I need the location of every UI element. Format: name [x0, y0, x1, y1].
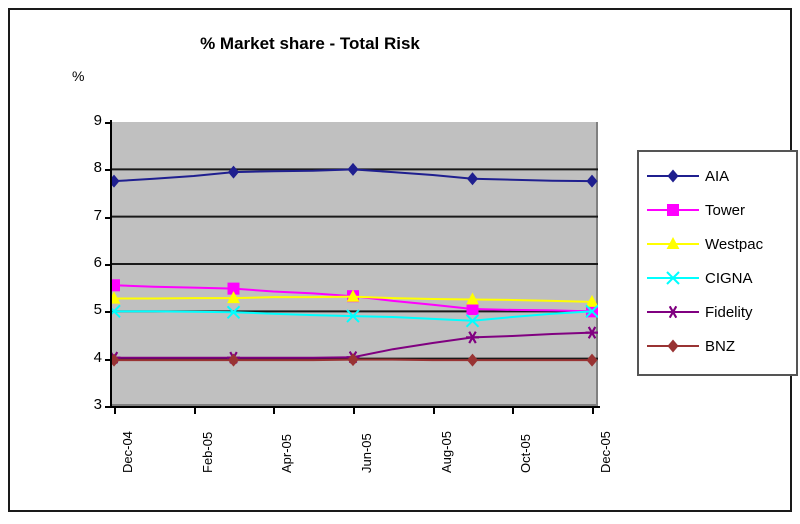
y-tick-label: 6	[76, 254, 102, 271]
x-tick-label: Jun-05	[359, 433, 374, 473]
y-tick-mark	[105, 122, 112, 124]
x-tick-label: Dec-05	[598, 431, 613, 473]
x-tick-mark	[194, 407, 196, 414]
legend-label: Fidelity	[705, 304, 753, 321]
x-tick-label: Oct-05	[518, 434, 533, 473]
legend-item-aia[interactable]: AIA	[645, 163, 795, 189]
y-tick-label: 3	[76, 396, 102, 413]
x-tick-mark	[433, 407, 435, 414]
legend-symbol-diamond-icon	[645, 335, 701, 357]
y-tick-mark	[105, 169, 112, 171]
y-tick-label: 5	[76, 301, 102, 318]
data-point-marker	[347, 353, 358, 366]
y-tick-label: 9	[76, 112, 102, 129]
y-tick-mark	[105, 217, 112, 219]
data-point-marker	[467, 303, 479, 315]
y-tick-mark	[105, 311, 112, 313]
data-point-marker	[467, 172, 478, 185]
data-point-marker	[112, 175, 120, 188]
data-point-marker	[228, 354, 239, 367]
data-point-marker	[228, 166, 239, 179]
data-point-marker	[586, 354, 597, 367]
x-tick-label: Apr-05	[279, 434, 294, 473]
x-tick-label: Aug-05	[439, 431, 454, 473]
x-axis-line	[110, 406, 600, 408]
legend-symbol-diamond-icon	[645, 165, 701, 187]
legend-item-fidelity[interactable]: Fidelity	[645, 299, 795, 325]
chart-title: % Market share - Total Risk	[10, 34, 610, 54]
y-tick-label: 7	[76, 207, 102, 224]
legend-item-bnz[interactable]: BNZ	[645, 333, 795, 359]
chart-frame: % Market share - Total Risk % 9876543 De…	[8, 8, 792, 512]
data-point-marker	[112, 279, 120, 291]
y-tick-mark	[105, 406, 112, 408]
x-tick-mark	[353, 407, 355, 414]
plot-area	[112, 122, 598, 406]
legend-label: CIGNA	[705, 270, 753, 287]
y-tick-label: 8	[76, 159, 102, 176]
x-tick-mark	[273, 407, 275, 414]
legend-symbol-asterisk-icon	[645, 301, 701, 323]
data-point-marker	[347, 163, 358, 176]
legend-item-cigna[interactable]: CIGNA	[645, 265, 795, 291]
x-tick-mark	[114, 407, 116, 414]
data-point-marker	[667, 170, 678, 183]
y-axis-title: %	[72, 68, 84, 84]
legend-label: Tower	[705, 202, 745, 219]
legend-item-westpac[interactable]: Westpac	[645, 231, 795, 257]
x-tick-mark	[512, 407, 514, 414]
legend-symbol-x-icon	[645, 267, 701, 289]
data-point-marker	[586, 327, 599, 338]
x-tick-label: Dec-04	[120, 431, 135, 473]
series-aia	[112, 163, 598, 188]
legend-item-tower[interactable]: Tower	[645, 197, 795, 223]
data-point-marker	[667, 204, 679, 216]
x-tick-mark	[592, 407, 594, 414]
data-point-marker	[586, 175, 597, 188]
legend-label: AIA	[705, 168, 729, 185]
data-point-marker	[466, 332, 479, 343]
plot-series-svg	[112, 122, 598, 406]
legend-symbol-square-icon	[645, 199, 701, 221]
x-tick-label: Feb-05	[200, 432, 215, 473]
y-tick-mark	[105, 359, 112, 361]
chart-legend: AIATowerWestpacCIGNAFidelityBNZ	[637, 150, 798, 376]
y-tick-mark	[105, 264, 112, 266]
data-point-marker	[467, 354, 478, 367]
data-point-marker	[667, 340, 678, 353]
series-cigna	[112, 305, 598, 326]
legend-label: BNZ	[705, 338, 735, 355]
y-tick-label: 4	[76, 349, 102, 366]
data-point-marker	[667, 306, 680, 317]
legend-label: Westpac	[705, 236, 763, 253]
legend-symbol-triangle-icon	[645, 233, 701, 255]
